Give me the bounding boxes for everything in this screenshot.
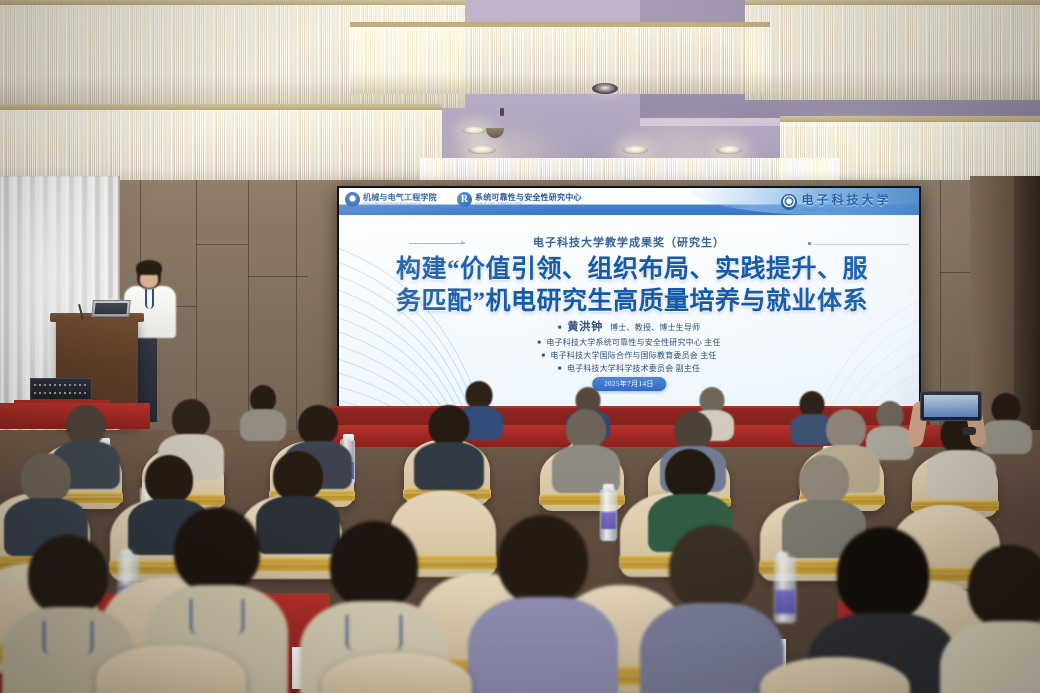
presenter-titles: 博士、教授、博士生导师 bbox=[610, 323, 700, 332]
school-name-cn: 机械与电气工程学院 bbox=[363, 194, 437, 202]
presentation-slide: 机械与电气工程学院 School of Mechanical and Elect… bbox=[339, 188, 919, 409]
smoke-detector-icon bbox=[486, 128, 504, 138]
slide-eyebrow: 电子科技大学教学成果奖（研究生） bbox=[339, 234, 919, 250]
research-center-name-cn: 系统可靠性与安全性研究中心 bbox=[475, 194, 582, 202]
wristwatch-icon bbox=[962, 427, 976, 435]
university-name-cn: 电子科技大学 bbox=[801, 191, 907, 208]
uestc-seal-icon bbox=[781, 194, 797, 210]
attendee bbox=[552, 409, 620, 485]
ceiling-downlight bbox=[716, 146, 742, 154]
attendee bbox=[640, 525, 784, 693]
speaker-hair bbox=[136, 260, 162, 275]
research-center-mark-icon bbox=[457, 192, 472, 207]
presenter-block: ■ 黄洪钟 博士、教授、博士生导师 ■ 电子科技大学系统可靠性与安全性研究中心 … bbox=[339, 319, 919, 376]
audience-area: 刘景明 吴军 bbox=[0, 395, 1040, 693]
university-logo: 电子科技大学 UNIVERSITY OF ELECTRONIC SCIENCE … bbox=[781, 191, 907, 212]
bullet-icon: ■ bbox=[541, 353, 545, 359]
chandelier-mid-band bbox=[350, 22, 770, 94]
presenter-name: 黄洪钟 bbox=[567, 321, 603, 333]
chandelier-upper-right bbox=[745, 0, 1040, 100]
attendee-taking-photo bbox=[896, 391, 1016, 461]
attendee bbox=[4, 453, 88, 545]
slide-title: 构建“价值引领、组织布局、实践提升、服 务匹配”机电研究生高质量培养与就业体系 bbox=[361, 254, 903, 318]
attendee bbox=[468, 515, 618, 693]
research-center-name-en: Center for System Reliability and Safety bbox=[475, 202, 577, 205]
presenter-affiliation: ■ 电子科技大学系统可靠性与安全性研究中心 主任 bbox=[339, 337, 919, 350]
ceiling-downlight bbox=[622, 146, 648, 154]
presenter-affiliation: ■ 电子科技大学科学技术委员会 副主任 bbox=[339, 363, 919, 376]
bullet-icon: ■ bbox=[558, 325, 562, 331]
ceiling-downlight bbox=[468, 146, 496, 154]
research-center-logo: 系统可靠性与安全性研究中心 Center for System Reliabil… bbox=[457, 192, 582, 207]
slide-header-band: 机械与电气工程学院 School of Mechanical and Elect… bbox=[339, 188, 919, 215]
bullet-icon: ■ bbox=[537, 340, 541, 346]
attendee bbox=[940, 545, 1040, 693]
podium-laptop bbox=[91, 300, 131, 317]
attendee bbox=[414, 405, 484, 483]
presenter-affiliation-text: 电子科技大学国际合作与国际教育委员会 主任 bbox=[550, 351, 716, 360]
ceiling-downlight bbox=[462, 127, 486, 134]
school-crest-icon bbox=[345, 192, 360, 207]
school-logo: 机械与电气工程学院 School of Mechanical and Elect… bbox=[345, 192, 437, 207]
bullet-icon: ■ bbox=[558, 366, 562, 372]
presenter-affiliation: ■ 电子科技大学国际合作与国际教育委员会 主任 bbox=[339, 350, 919, 363]
attendee bbox=[240, 385, 286, 439]
presenter-name-line: ■ 黄洪钟 博士、教授、博士生导师 bbox=[339, 319, 919, 337]
school-name-en: School of Mechanical and Electrical Engi… bbox=[363, 202, 434, 205]
ceiling bbox=[0, 0, 1040, 196]
smartphone-icon bbox=[920, 391, 982, 421]
sprinkler-head-icon bbox=[500, 108, 504, 116]
slide-title-line-2: 务匹配”机电研究生高质量培养与就业体系 bbox=[361, 286, 903, 318]
presenter-affiliation-text: 电子科技大学科学技术委员会 副主任 bbox=[567, 364, 700, 373]
conference-hall-photo: 机械与电气工程学院 School of Mechanical and Elect… bbox=[0, 0, 1040, 693]
university-name-en: UNIVERSITY OF ELECTRONIC SCIENCE AND TEC… bbox=[801, 208, 907, 212]
speaker-lanyard bbox=[145, 289, 154, 309]
projection-screen: 机械与电气工程学院 School of Mechanical and Elect… bbox=[337, 186, 921, 411]
ceiling-downlight bbox=[592, 83, 618, 94]
presenter-affiliation-text: 电子科技大学系统可靠性与安全性研究中心 主任 bbox=[546, 338, 720, 347]
slide-title-line-1: 构建“价值引领、组织布局、实践提升、服 bbox=[361, 254, 903, 286]
